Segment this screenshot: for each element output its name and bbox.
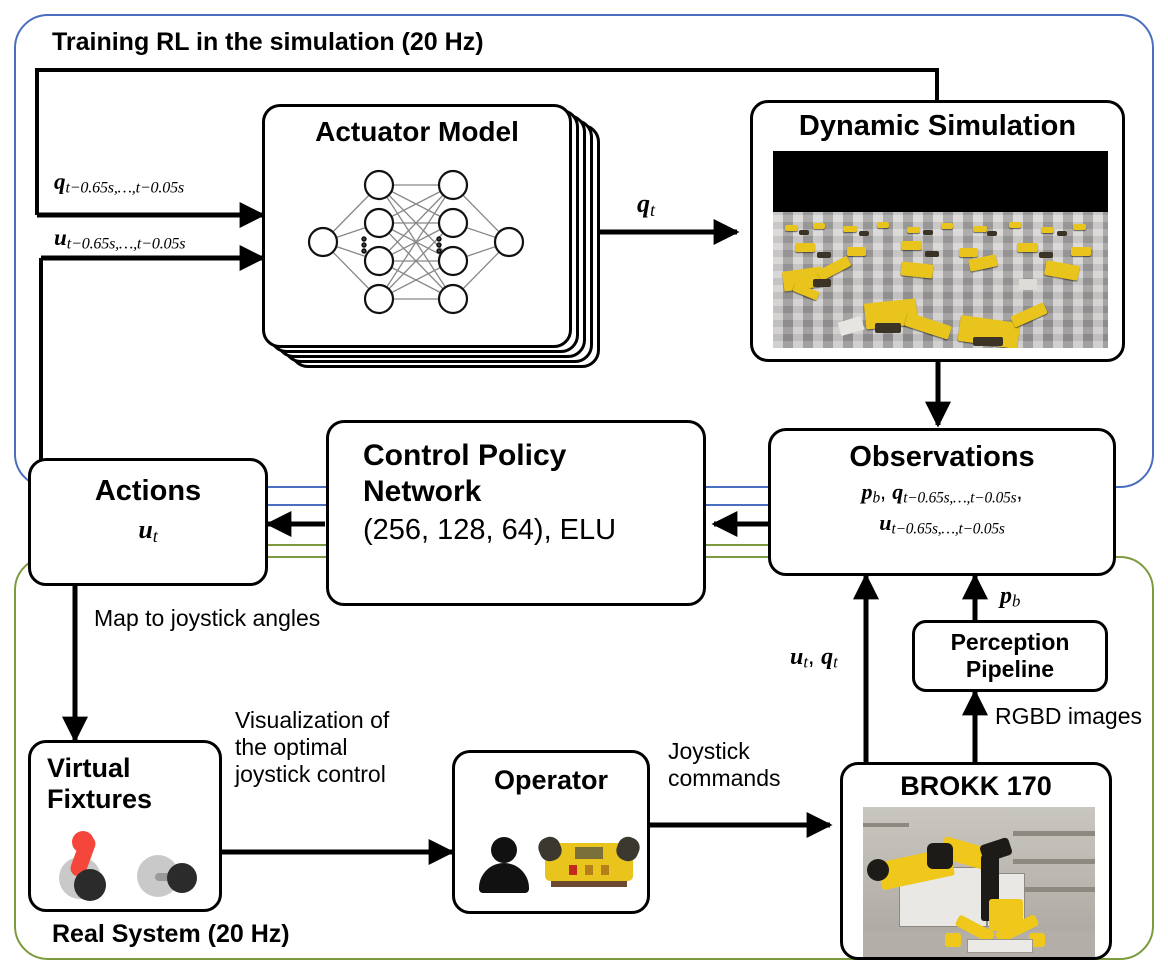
virtual-fixtures-node[interactable]: Virtual Fixtures bbox=[28, 740, 222, 912]
ut-var: u bbox=[790, 644, 803, 670]
p-b-label: pb bbox=[1000, 582, 1020, 612]
dynamic-simulation-image bbox=[773, 151, 1108, 348]
obs-comma-1: , bbox=[880, 479, 892, 504]
visualization-line2: the optimal bbox=[235, 734, 348, 760]
actions-title: Actions bbox=[31, 475, 265, 507]
brokk-170-image bbox=[863, 807, 1095, 957]
diagram-canvas: Training RL in the simulation (20 Hz) Re… bbox=[0, 0, 1168, 972]
observations-formula-line1: pb, qt−0.65s,…,t−0.05s, bbox=[771, 479, 1113, 507]
operator-node[interactable]: Operator bbox=[452, 750, 650, 914]
control-policy-title-line1: Control Policy bbox=[363, 439, 703, 473]
joystick-commands-line2: commands bbox=[668, 765, 780, 791]
obs-q-var: q bbox=[892, 479, 903, 504]
dynamic-simulation-node[interactable]: Dynamic Simulation bbox=[750, 100, 1125, 362]
u-history-sub: t−0.65s,…,t−0.05s bbox=[67, 236, 185, 253]
brokk-170-node[interactable]: BROKK 170 bbox=[840, 762, 1112, 960]
operator-console-icon bbox=[539, 827, 639, 893]
actions-formula: ut bbox=[31, 514, 265, 547]
operator-person-icon bbox=[477, 837, 531, 893]
neural-network-icon bbox=[287, 157, 537, 327]
p-b-var: p bbox=[1000, 583, 1012, 609]
q-t-sub: t bbox=[650, 200, 655, 220]
u-history-label: ut−0.65s,…,t−0.05s bbox=[54, 224, 185, 255]
q-history-var: q bbox=[54, 169, 66, 194]
visualization-line1: Visualization of bbox=[235, 707, 389, 733]
actions-u-sub: t bbox=[153, 526, 158, 546]
rgbd-images-label: RGBD images bbox=[995, 703, 1142, 730]
joystick-neutral-icon bbox=[137, 847, 207, 901]
visualization-label: Visualization of the optimal joystick co… bbox=[235, 707, 389, 788]
joystick-tilted-icon bbox=[57, 835, 127, 901]
region-training-rl-label: Training RL in the simulation (20 Hz) bbox=[52, 28, 484, 57]
virtual-fixtures-title-line2: Fixtures bbox=[47, 784, 219, 814]
observations-title: Observations bbox=[771, 441, 1113, 473]
joystick-commands-label: Joystick commands bbox=[668, 738, 780, 792]
obs-p-var: p bbox=[861, 479, 872, 504]
ut-qt-label: ut, qt bbox=[790, 643, 838, 673]
qt2-sub: t bbox=[833, 653, 837, 672]
u-history-var: u bbox=[54, 225, 67, 250]
obs-p-sub: b bbox=[872, 490, 880, 507]
region-real-system-label: Real System (20 Hz) bbox=[52, 920, 290, 949]
ut-qt-comma: , bbox=[808, 643, 821, 670]
perception-pipeline-node[interactable]: Perception Pipeline bbox=[912, 620, 1108, 692]
perception-pipeline-title-line1: Perception bbox=[915, 630, 1105, 656]
obs-comma-2: , bbox=[1016, 479, 1022, 504]
actuator-model-title: Actuator Model bbox=[265, 116, 569, 147]
control-policy-title-line2: Network bbox=[363, 475, 703, 509]
actuator-model-node[interactable]: Actuator Model bbox=[262, 104, 572, 348]
q-history-sub: t−0.65s,…,t−0.05s bbox=[66, 180, 184, 197]
qt2-var: q bbox=[821, 644, 833, 670]
observations-node[interactable]: Observations pb, qt−0.65s,…,t−0.05s, ut−… bbox=[768, 428, 1116, 576]
joystick-commands-line1: Joystick bbox=[668, 738, 750, 764]
operator-title: Operator bbox=[455, 765, 647, 795]
brokk-170-title: BROKK 170 bbox=[843, 771, 1109, 801]
control-policy-network-node[interactable]: Control Policy Network (256, 128, 64), E… bbox=[326, 420, 706, 606]
actions-u-var: u bbox=[138, 515, 152, 544]
q-t-var: q bbox=[637, 189, 650, 218]
actions-node[interactable]: Actions ut bbox=[28, 458, 268, 586]
perception-pipeline-title-line2: Pipeline bbox=[915, 657, 1105, 683]
obs-q-sub: t−0.65s,…,t−0.05s bbox=[903, 490, 1016, 507]
visualization-line3: joystick control bbox=[235, 761, 386, 787]
q-t-label: qt bbox=[637, 188, 655, 221]
p-b-sub: b bbox=[1012, 592, 1020, 611]
obs-u-var: u bbox=[879, 510, 891, 535]
control-policy-subtitle: (256, 128, 64), ELU bbox=[363, 514, 703, 547]
q-history-label: qt−0.65s,…,t−0.05s bbox=[54, 168, 184, 199]
dynamic-simulation-title: Dynamic Simulation bbox=[753, 110, 1122, 142]
virtual-fixtures-title-line1: Virtual bbox=[47, 753, 219, 783]
map-to-joystick-angles-label: Map to joystick angles bbox=[94, 605, 320, 632]
observations-formula-line2: ut−0.65s,…,t−0.05s bbox=[771, 510, 1113, 538]
obs-u-sub: t−0.65s,…,t−0.05s bbox=[892, 520, 1005, 537]
